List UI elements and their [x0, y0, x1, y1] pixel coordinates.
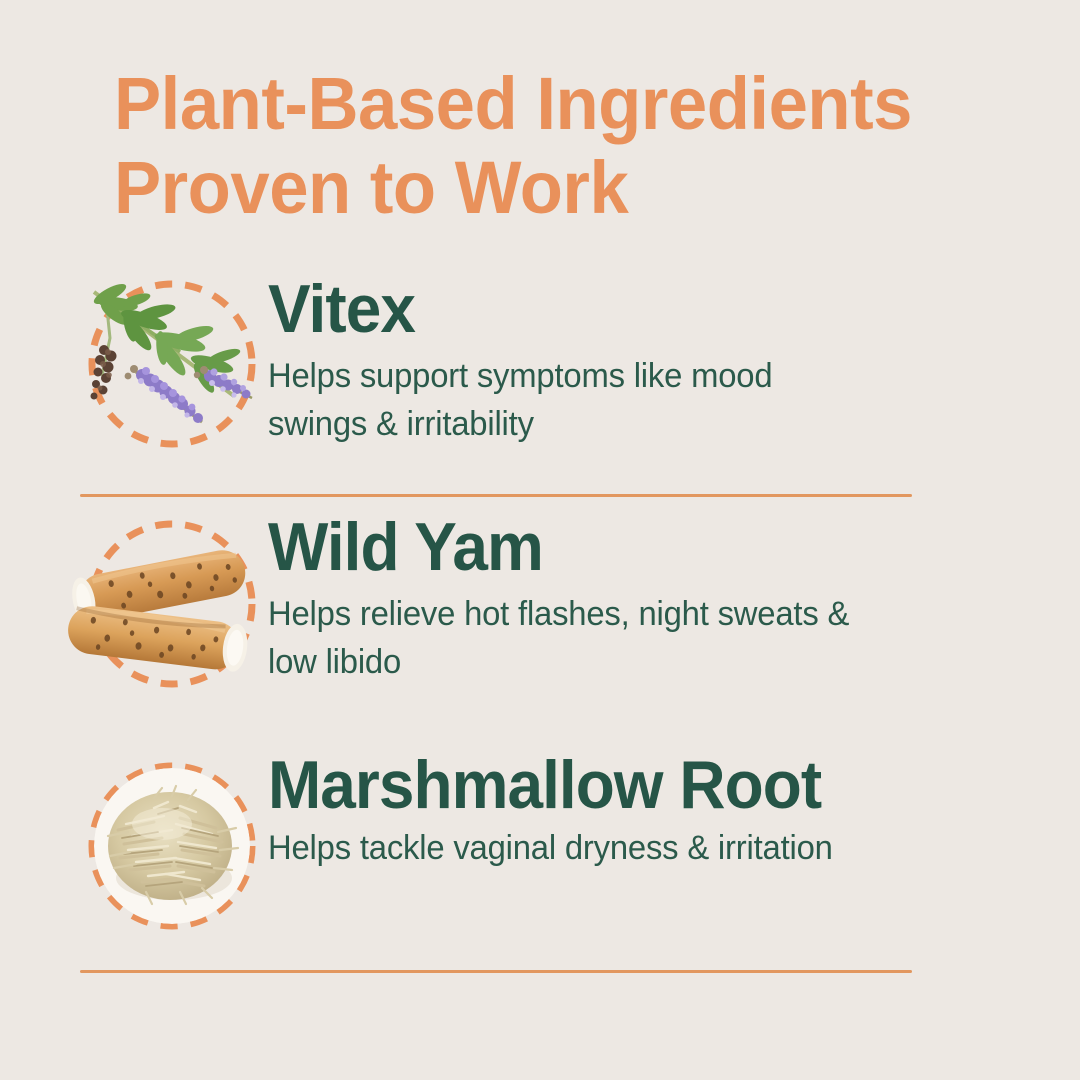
- list-item: Wild Yam Helps relieve hot flashes, nigh…: [0, 494, 1080, 734]
- list-item: Vitex Helps support symptoms like mood s…: [0, 258, 1080, 494]
- ingredient-name: Marshmallow Root: [268, 748, 994, 822]
- wild-yam-icon: [84, 516, 260, 692]
- vitex-sprig-icon: [84, 276, 260, 452]
- ingredient-description: Helps support symptoms like mood swings …: [268, 352, 944, 448]
- page-title: Plant-Based Ingredients Proven to Work: [114, 62, 974, 230]
- ingredient-text-block: Vitex Helps support symptoms like mood s…: [268, 272, 1040, 448]
- ingredient-text-block: Marshmallow Root Helps tackle vaginal dr…: [268, 748, 1040, 872]
- marshmallow-root-icon: [84, 758, 260, 934]
- ingredient-text-block: Wild Yam Helps relieve hot flashes, nigh…: [268, 510, 1040, 686]
- ingredient-name: Wild Yam: [268, 510, 994, 584]
- ingredient-description: Helps relieve hot flashes, night sweats …: [268, 590, 1001, 686]
- ingredients-infographic: Plant-Based Ingredients Proven to Work: [0, 0, 1080, 1080]
- ingredient-description: Helps tackle vaginal dryness & irritatio…: [268, 824, 1013, 872]
- ingredient-list: Vitex Helps support symptoms like mood s…: [0, 258, 1080, 974]
- ingredient-name: Vitex: [268, 272, 994, 346]
- list-item: Marshmallow Root Helps tackle vaginal dr…: [0, 734, 1080, 974]
